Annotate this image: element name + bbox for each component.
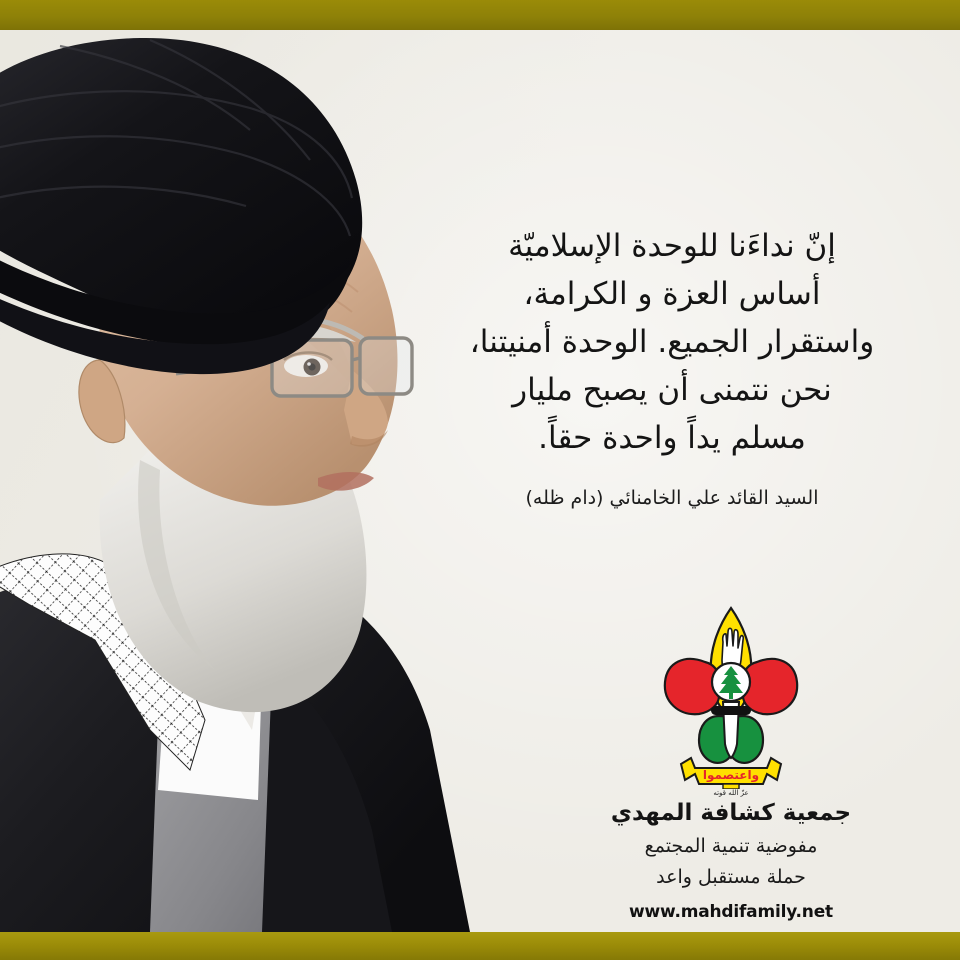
quote-line-1: إنّ نداءَنا للوحدة الإسلاميّة: [412, 222, 932, 270]
org-commission: مفوضية تنمية المجتمع: [576, 835, 886, 857]
bottom-olive-band: [0, 932, 960, 960]
top-olive-band: [0, 0, 960, 30]
quote-block: إنّ نداءَنا للوحدة الإسلاميّة أساس العزة…: [412, 222, 932, 512]
org-website[interactable]: www.mahdifamily.net: [576, 902, 886, 922]
poster-canvas: إنّ نداءَنا للوحدة الإسلاميّة أساس العزة…: [0, 0, 960, 960]
org-tiny-line: عزّ الله قوته: [576, 789, 886, 797]
mahdi-scouts-emblem-icon: واعتصموا: [661, 604, 801, 789]
portrait-image: [0, 30, 470, 932]
org-name: جمعية كشافة المهدي: [576, 800, 886, 826]
org-campaign: حملة مستقبل واعد: [576, 866, 886, 888]
quote-line-5: مسلم يداً واحدة حقاً.: [412, 414, 932, 462]
emblem-banner-text: واعتصموا: [703, 768, 759, 783]
quote-line-3: واستقرار الجميع. الوحدة أمنيتنا،: [412, 318, 932, 366]
quote-line-2: أساس العزة و الكرامة،: [412, 270, 932, 318]
quote-line-4: نحن نتمنى أن يصبح مليار: [412, 366, 932, 414]
quote-attribution: السيد القائد علي الخامنائي (دام ظله): [412, 484, 932, 512]
logo-and-footer: واعتصموا عزّ الله قوته جمعية كشافة المهد…: [576, 604, 886, 922]
